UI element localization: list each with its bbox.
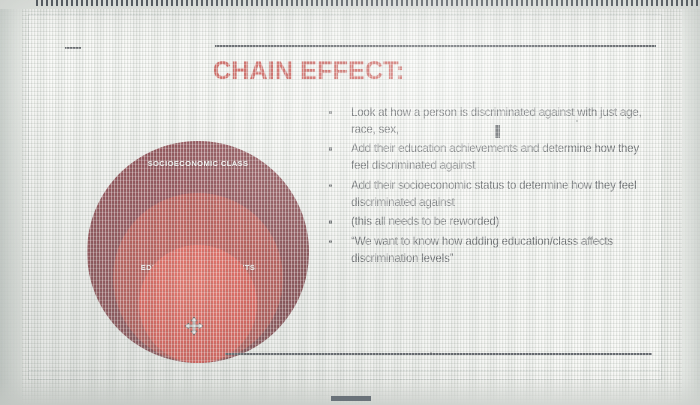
text-caret-icon [495,125,500,138]
bullet-text: Add their socioeconomic status to determ… [351,179,636,209]
move-cursor-icon [184,316,204,336]
slide-lower-guide [28,370,660,371]
list-item: Look at how a person is discriminated ag… [323,105,653,138]
photo-left-edge [0,0,22,405]
ring-age-race-sex[interactable]: AGE, RACE, SEX [139,245,257,363]
photo-speck [576,120,578,122]
title-rule-top [215,45,656,47]
presentation-slide: CHAIN EFFECT: SOCIOECONOMIC CLASS EDUCAT… [28,14,662,380]
bottom-taskbar-sliver [331,396,371,401]
concentric-circle-diagram[interactable]: SOCIOECONOMIC CLASS EDUCATION ACHIEVEMEN… [87,141,309,363]
photo-bottom-edge [0,379,700,405]
photo-top-strip [0,0,700,9]
photo-speck [430,352,432,354]
bullet-text: (this all needs to be reworded) [351,215,499,228]
list-item: (this all needs to be reworded) [323,214,653,231]
bullet-list: Look at how a person is discriminated ag… [323,105,653,270]
footer-rule-bottom [225,353,652,355]
list-item: “We want to know how adding education/cl… [323,234,653,267]
bullet-dot-icon [329,240,332,243]
small-dash-mark [65,47,81,49]
ring-label-socioeconomic-class: SOCIOECONOMIC CLASS [87,159,309,169]
screenshot-root: CHAIN EFFECT: SOCIOECONOMIC CLASS EDUCAT… [0,0,700,405]
bullet-dot-icon [329,147,332,150]
list-item: Add their education achievements and det… [323,141,653,174]
bullet-text: Add their education achievements and det… [351,142,639,172]
bullet-text: “We want to know how adding education/cl… [351,235,613,265]
bullet-dot-icon [329,184,332,187]
slide-title: CHAIN EFFECT: [213,57,404,86]
photo-right-edge [682,0,700,405]
list-item: Add their socioeconomic status to determ… [323,178,653,211]
bullet-dot-icon [329,111,332,114]
photo-top-dashes [36,0,700,6]
bullet-dot-icon [329,220,332,223]
